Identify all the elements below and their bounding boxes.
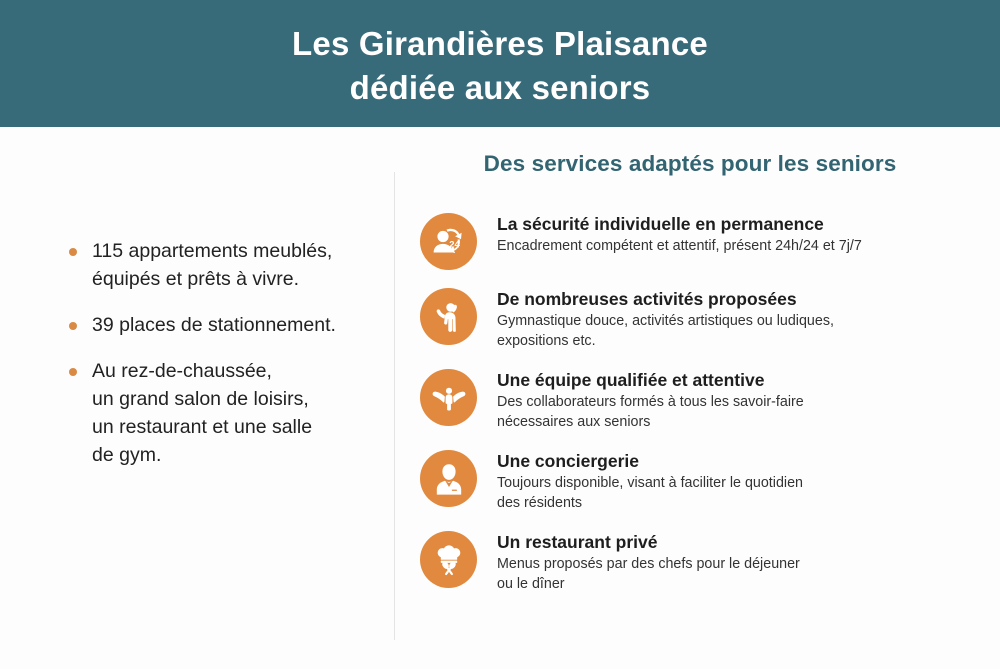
list-item-label: 115 appartements meublés, équipés et prê…	[92, 237, 376, 293]
left-panel: 115 appartements meublés, équipés et prê…	[66, 237, 376, 469]
service-text-block: La sécurité individuelle en permanence E…	[497, 211, 862, 257]
person-stretching-exercise-icon	[420, 288, 477, 345]
service-item-activities: De nombreuses activités proposées Gymnas…	[420, 286, 960, 351]
service-description: Encadrement compétent et attentif, prése…	[497, 237, 862, 257]
page-title-line-2: dédiée aux seniors	[350, 66, 651, 110]
service-text-block: Une conciergerie Toujours disponible, vi…	[497, 448, 803, 513]
services-heading: Des services adaptés pour les seniors	[420, 151, 960, 177]
right-panel: Des services adaptés pour les seniors 24…	[420, 151, 960, 594]
svg-text:24: 24	[449, 239, 460, 250]
service-description: Des collaborateurs formés à tous les sav…	[497, 393, 804, 432]
concierge-person-icon	[420, 450, 477, 507]
bullet-dot-icon	[69, 248, 77, 256]
bullet-dot-icon	[69, 368, 77, 376]
service-item-concierge: Une conciergerie Toujours disponible, vi…	[420, 448, 960, 513]
service-text-block: Une équipe qualifiée et attentive Des co…	[497, 367, 804, 432]
header-banner: Les Girandières Plaisance dédiée aux sen…	[0, 0, 1000, 127]
service-title: De nombreuses activités proposées	[497, 288, 834, 310]
content-area: 115 appartements meublés, équipés et prê…	[0, 127, 1000, 669]
person-protective-hands-icon	[420, 369, 477, 426]
service-text-block: De nombreuses activités proposées Gymnas…	[497, 286, 834, 351]
service-item-security: 24 La sécurité individuelle en permanenc…	[420, 211, 960, 270]
list-item-label: 39 places de stationnement.	[92, 311, 376, 339]
service-description: Menus proposés par des chefs pour le déj…	[497, 555, 800, 594]
list-item-label: Au rez-de-chaussée, un grand salon de lo…	[92, 357, 376, 469]
service-title: Un restaurant privé	[497, 531, 800, 553]
service-item-restaurant: Un restaurant privé Menus proposés par d…	[420, 529, 960, 594]
service-description: Gymnastique douce, activités artistiques…	[497, 312, 834, 351]
person-24h-rotation-icon: 24	[420, 213, 477, 270]
bullet-dot-icon	[69, 322, 77, 330]
list-item: 39 places de stationnement.	[66, 311, 376, 339]
service-title: Une équipe qualifiée et attentive	[497, 369, 804, 391]
list-item: 115 appartements meublés, équipés et prê…	[66, 237, 376, 293]
features-bullet-list: 115 appartements meublés, équipés et prê…	[66, 237, 376, 469]
service-item-team: Une équipe qualifiée et attentive Des co…	[420, 367, 960, 432]
list-item: Au rez-de-chaussée, un grand salon de lo…	[66, 357, 376, 469]
service-description: Toujours disponible, visant à faciliter …	[497, 474, 803, 513]
service-title: Une conciergerie	[497, 450, 803, 472]
page-title-line-1: Les Girandières Plaisance	[292, 22, 708, 66]
column-divider	[394, 172, 395, 640]
service-text-block: Un restaurant privé Menus proposés par d…	[497, 529, 800, 594]
service-title: La sécurité individuelle en permanence	[497, 213, 862, 235]
chef-hat-cutlery-icon	[420, 531, 477, 588]
